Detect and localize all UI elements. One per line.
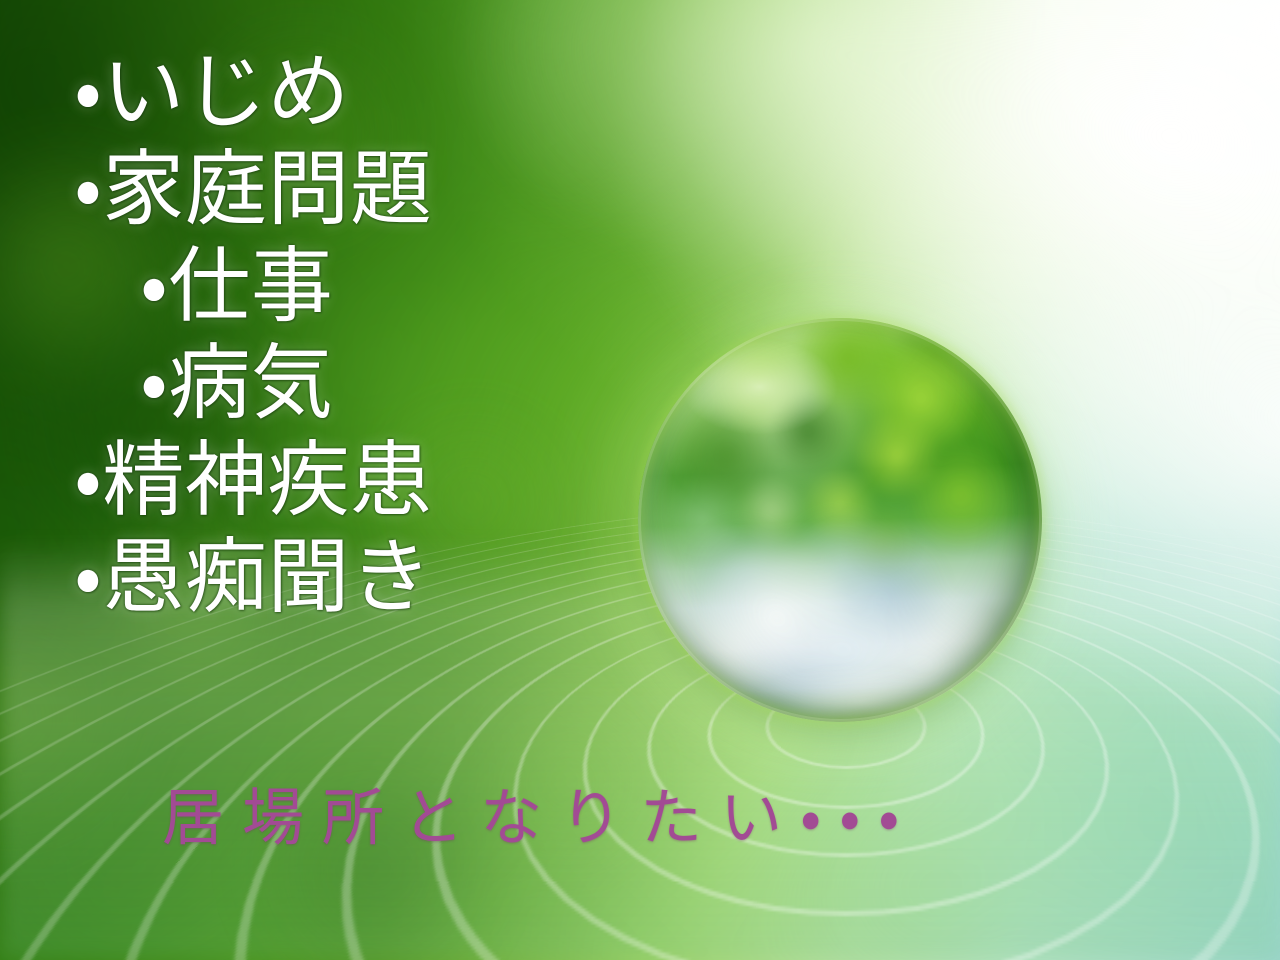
ripple-ring: [757, 685, 936, 769]
support-topic-item: ・家庭問題: [0, 141, 540, 238]
support-topic-item: ・病気: [0, 335, 540, 432]
globe-glow: [594, 274, 1086, 766]
support-topic-item: ・愚痴聞き: [0, 529, 540, 626]
glass-globe: [638, 318, 1042, 722]
globe-edge-light: [636, 316, 1044, 724]
globe-specular-rim: [638, 318, 1042, 722]
ripple-ring: [0, 582, 1280, 960]
support-topic-item: ・仕事: [0, 238, 540, 335]
support-topic-list: ・いじめ・家庭問題・仕事・病気・精神疾患・愚痴聞き: [0, 44, 540, 626]
support-topic-item: ・いじめ: [0, 44, 540, 141]
ripple-ring: [0, 570, 1280, 960]
globe-body: [638, 318, 1042, 722]
ripple-ring: [146, 595, 1280, 960]
globe-moss-texture: [638, 318, 1042, 722]
tagline-text: 居場所となりたい・・・: [162, 782, 1142, 854]
support-topic-item: ・精神疾患: [0, 432, 540, 529]
globe-ice-texture: [638, 318, 1042, 722]
poster-canvas: ・いじめ・家庭問題・仕事・病気・精神疾患・愚痴聞き 居場所となりたい・・・: [0, 0, 1280, 960]
ripple-ring: [475, 625, 1216, 916]
